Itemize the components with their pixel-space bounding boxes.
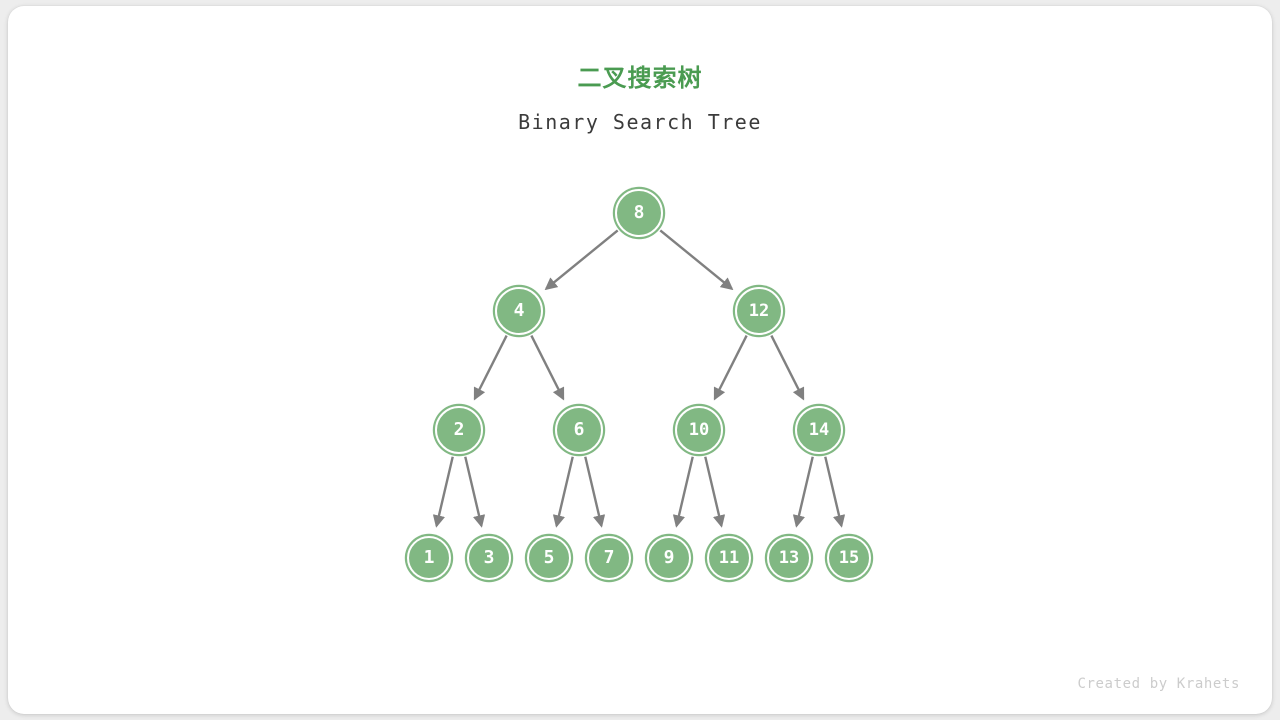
- tree-node-11: 11: [707, 536, 751, 580]
- tree-node-1: 1: [407, 536, 451, 580]
- watermark-credit: Created by Krahets: [1077, 676, 1240, 692]
- tree-node-label: 13: [779, 550, 799, 567]
- tree-node-label: 11: [719, 550, 739, 567]
- tree-node-12: 12: [735, 287, 783, 335]
- tree-node-10: 10: [675, 406, 723, 454]
- tree-node-label: 8: [634, 204, 645, 222]
- tree-node-4: 4: [495, 287, 543, 335]
- tree-node-label: 6: [574, 421, 585, 439]
- tree-node-13: 13: [767, 536, 811, 580]
- tree-node-6: 6: [555, 406, 603, 454]
- tree-node-label: 10: [689, 422, 709, 439]
- tree-node-8: 8: [615, 189, 663, 237]
- diagram-card: 二叉搜索树 Binary Search Tree 841226101413579…: [8, 6, 1272, 714]
- tree-node-label: 5: [544, 549, 555, 567]
- tree-node-label: 9: [664, 549, 675, 567]
- tree-node-label: 12: [749, 303, 769, 320]
- tree-node-15: 15: [827, 536, 871, 580]
- tree-node-label: 4: [514, 302, 525, 320]
- tree-node-label: 1: [424, 549, 435, 567]
- tree-node-layer: 841226101413579111315: [8, 6, 1272, 714]
- tree-node-14: 14: [795, 406, 843, 454]
- tree-node-5: 5: [527, 536, 571, 580]
- tree-node-label: 3: [484, 549, 495, 567]
- tree-node-7: 7: [587, 536, 631, 580]
- tree-node-3: 3: [467, 536, 511, 580]
- tree-node-label: 14: [809, 422, 829, 439]
- tree-node-2: 2: [435, 406, 483, 454]
- tree-node-label: 15: [839, 550, 859, 567]
- tree-node-label: 2: [454, 421, 465, 439]
- tree-node-9: 9: [647, 536, 691, 580]
- tree-node-label: 7: [604, 549, 615, 567]
